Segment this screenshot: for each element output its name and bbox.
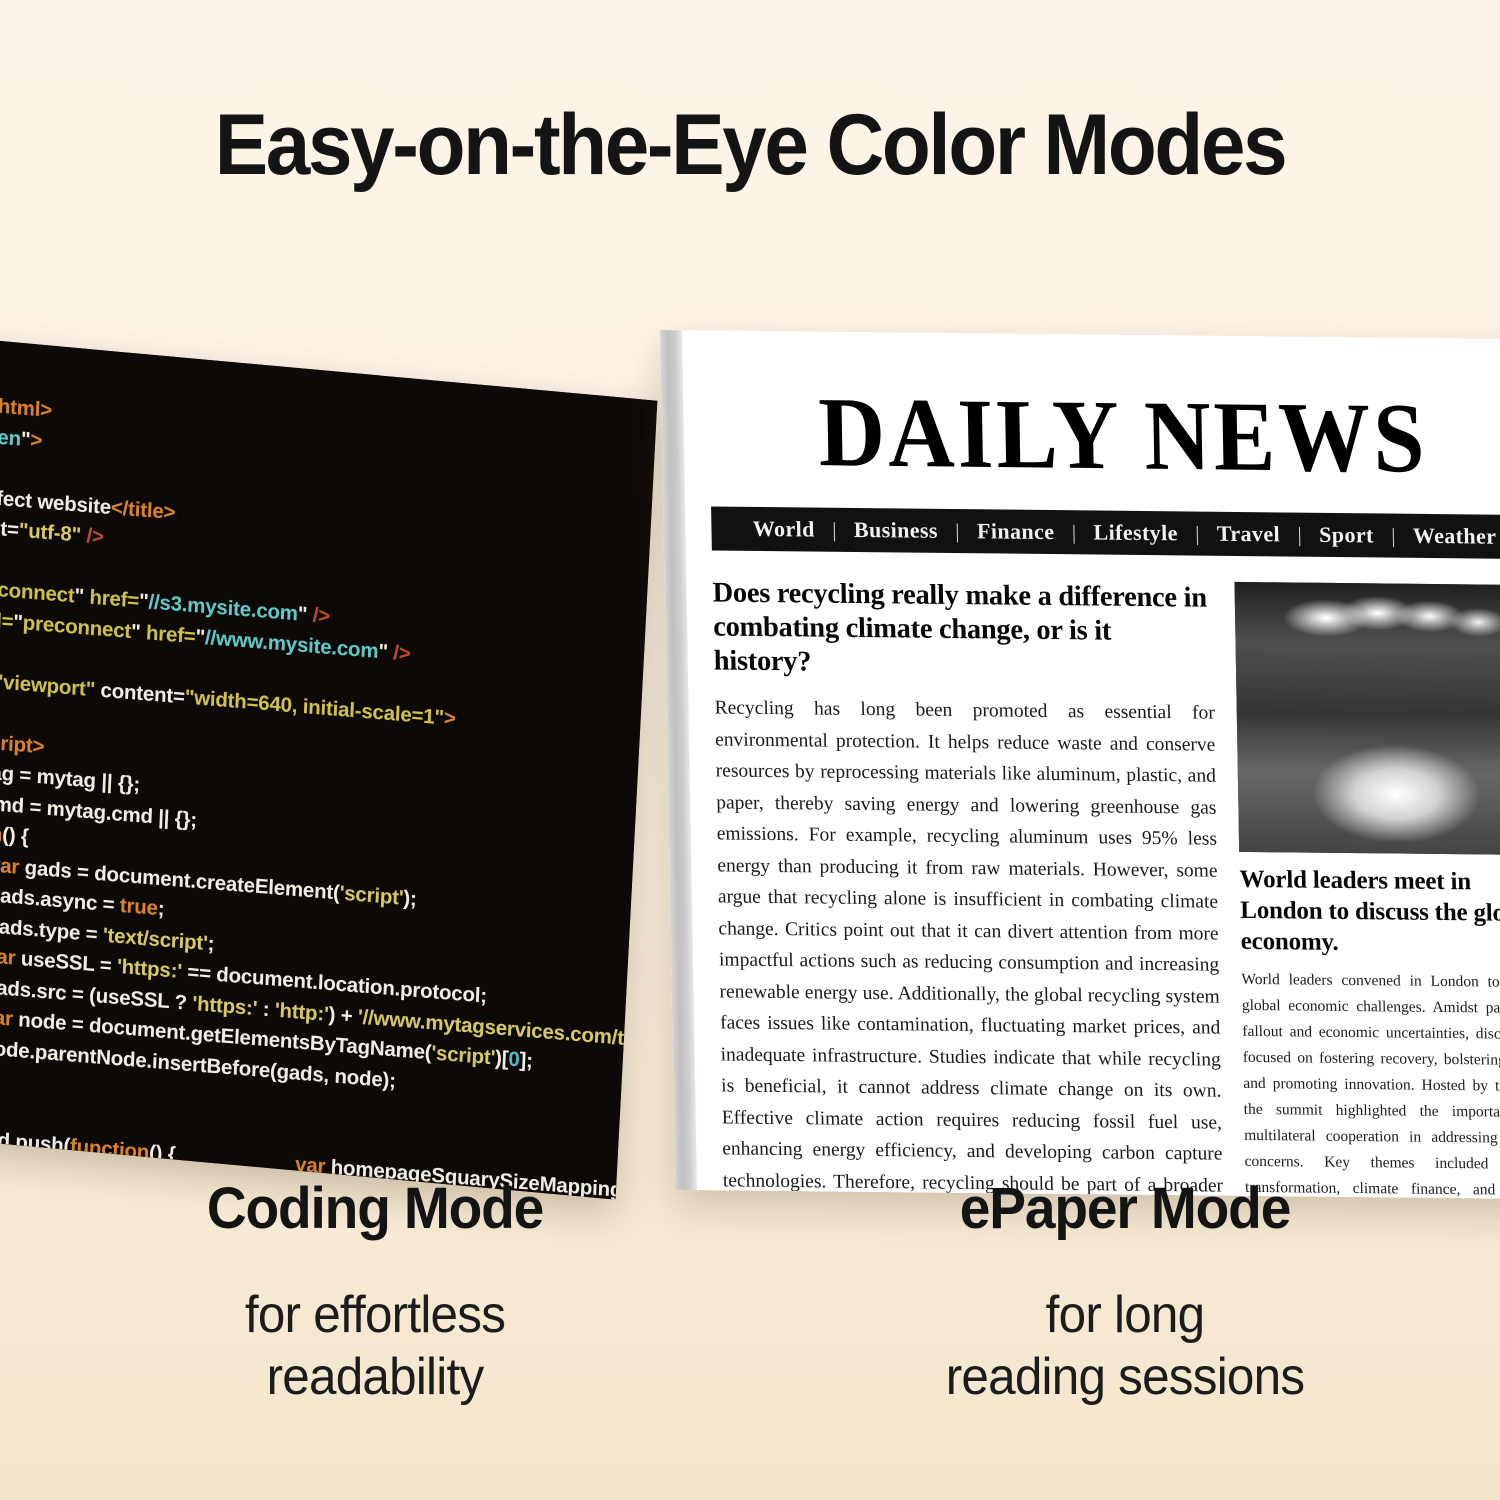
side-article-body: World leaders convened in London to tack…	[1241, 967, 1500, 1199]
epaper-mode-caption: ePaper Mode for longreading sessions	[750, 1175, 1500, 1408]
epaper-mode-subtext: for longreading sessions	[769, 1284, 1482, 1408]
nav-item-travel[interactable]: Travel	[1217, 521, 1281, 547]
coding-mode-caption: Coding Mode for effortlessreadability	[0, 1175, 750, 1408]
nav-item-finance[interactable]: Finance	[977, 518, 1055, 544]
side-article-headline: World leaders meet in London to discuss …	[1239, 864, 1500, 960]
code-editor-surface[interactable]: <!DOCTYPE html> <html lang="en"> <head> …	[0, 330, 657, 1200]
coding-mode-subtext: for effortlessreadability	[19, 1284, 732, 1408]
nav-separator: |	[1182, 521, 1213, 545]
side-article[interactable]: World leaders meet in London to discuss …	[1234, 582, 1500, 1199]
main-article[interactable]: Does recycling really make a difference …	[712, 576, 1224, 1199]
nav-separator: |	[942, 519, 973, 543]
nav-item-lifestyle[interactable]: Lifestyle	[1093, 519, 1178, 545]
nav-item-weather[interactable]: Weather	[1413, 523, 1497, 549]
mode-captions: Coding Mode for effortlessreadability eP…	[0, 1175, 1500, 1408]
nav-item-business[interactable]: Business	[854, 517, 938, 543]
code-lines: <!DOCTYPE html> <html lang="en"> <head> …	[0, 382, 655, 1200]
newspaper-masthead: DAILY NEWS	[683, 361, 1500, 506]
nav-separator: |	[1378, 523, 1409, 547]
nav-separator: |	[1284, 522, 1315, 546]
main-article-headline: Does recycling really make a difference …	[712, 576, 1214, 683]
coding-mode-device[interactable]: <!DOCTYPE html> <html lang="en"> <head> …	[0, 330, 657, 1200]
main-article-body: Recycling has long been promoted as esse…	[714, 692, 1224, 1199]
recycling-facility-photo	[1234, 582, 1500, 855]
nav-item-sport[interactable]: Sport	[1319, 522, 1374, 548]
article-columns: Does recycling really make a difference …	[686, 550, 1500, 1199]
newspaper-page[interactable]: DAILY NEWS World | Business | Finance | …	[682, 330, 1500, 1199]
coding-mode-label: Coding Mode	[19, 1175, 732, 1242]
epaper-mode-device[interactable]: DAILY NEWS World | Business | Finance | …	[660, 330, 1500, 1199]
nav-separator: |	[1059, 520, 1090, 544]
epaper-mode-label: ePaper Mode	[769, 1175, 1482, 1242]
nav-separator: |	[819, 518, 850, 542]
nav-item-world[interactable]: World	[753, 516, 815, 542]
